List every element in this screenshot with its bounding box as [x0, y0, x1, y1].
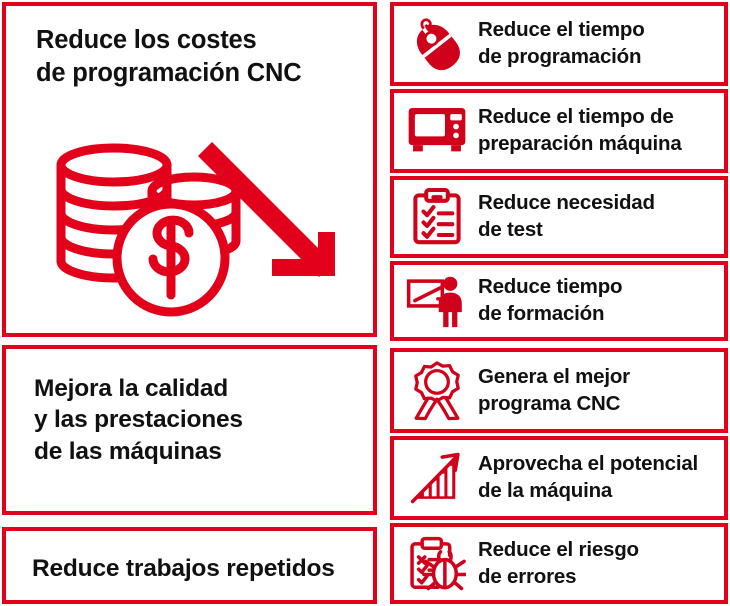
- clipboard-checklist-icon: [400, 182, 474, 252]
- benefit-row-reduce-necesidad-test: Reduce necesidad de test: [390, 176, 728, 258]
- cnc-machine-icon: [400, 96, 474, 166]
- benefit-label: Reduce el tiempo de programación: [474, 17, 724, 70]
- benefit-row-aprovecha-potencial: Aprovecha el potencial de la máquina: [390, 436, 728, 520]
- benefit-row-reduce-riesgo-errores: Reduce el riesgo de errores: [390, 523, 728, 604]
- panel-reduce-costes-title: Reduce los costes de programación CNC: [36, 24, 301, 89]
- panel-mejora-calidad: Mejora la calidad y las prestaciones de …: [2, 345, 377, 515]
- infographic-root: Reduce los costes de programación CNC: [0, 0, 730, 606]
- benefit-label: Reduce el tiempo de preparación máquina: [474, 104, 724, 157]
- benefit-label: Genera el mejor programa CNC: [474, 364, 724, 417]
- clipboard-bug-icon: [400, 529, 474, 599]
- award-ribbon-icon: [400, 356, 474, 426]
- panel-reduce-costes: Reduce los costes de programación CNC: [2, 2, 377, 337]
- panel-mejora-calidad-title: Mejora la calidad y las prestaciones de …: [34, 373, 243, 467]
- benefit-row-reduce-tiempo-programacion: Reduce el tiempo de programación: [390, 2, 728, 86]
- growth-chart-arrow-icon: [400, 443, 474, 513]
- benefit-label: Reduce necesidad de test: [474, 190, 724, 243]
- coins-stack-with-down-arrow-icon: [46, 136, 366, 331]
- benefit-label: Reduce tiempo de formación: [474, 274, 724, 327]
- panel-reduce-repetidos: Reduce trabajos repetidos: [2, 527, 377, 604]
- benefit-row-reduce-tiempo-preparacion: Reduce el tiempo de preparación máquina: [390, 89, 728, 173]
- computer-mouse-icon: [400, 9, 474, 79]
- panel-reduce-repetidos-title: Reduce trabajos repetidos: [32, 553, 335, 584]
- benefit-row-genera-mejor-programa: Genera el mejor programa CNC: [390, 348, 728, 433]
- benefit-row-reduce-tiempo-formacion: Reduce tiempo de formación: [390, 261, 728, 341]
- trainer-whiteboard-icon: [400, 266, 474, 336]
- benefit-label: Reduce el riesgo de errores: [474, 537, 724, 590]
- benefit-label: Aprovecha el potencial de la máquina: [474, 451, 724, 504]
